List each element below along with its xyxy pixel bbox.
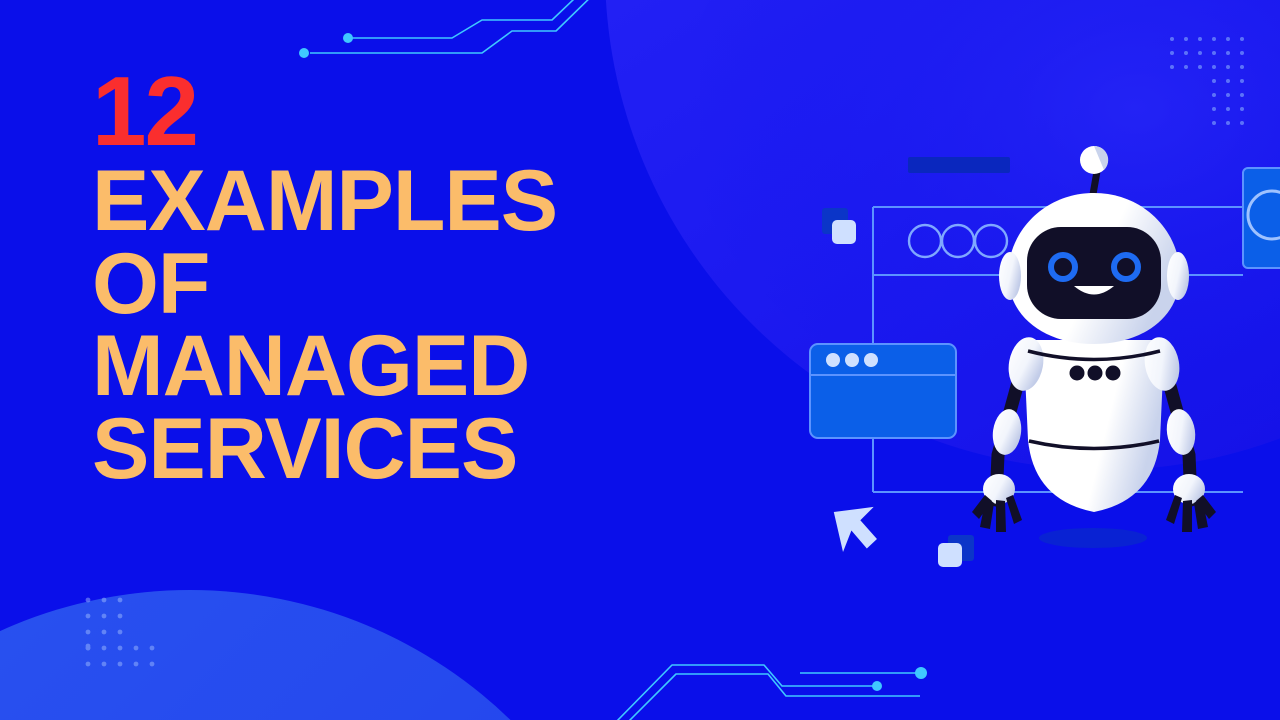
robot-body (1005, 334, 1184, 512)
headline-line-2: OF (92, 243, 712, 326)
robot-ear-right (1167, 252, 1189, 300)
headline-line-1: EXAMPLES (92, 160, 712, 243)
robot-head (999, 193, 1189, 344)
robot-ear-left (999, 252, 1021, 300)
cursor-arrow-icon[interactable] (834, 503, 883, 554)
robot-visor (1027, 227, 1161, 319)
robot-hand-left (972, 495, 1022, 532)
robot-hand-right (1166, 495, 1216, 532)
square-pair-bottom (938, 535, 974, 567)
headline-line-3: MANAGED (92, 325, 712, 408)
robot-arm-right (1164, 368, 1216, 532)
square-pair-top (822, 208, 856, 244)
slide-canvas: 12 EXAMPLES OF MANAGED SERVICES (0, 0, 1280, 720)
headline-line-4: SERVICES (92, 408, 712, 491)
robot-arm-left (972, 368, 1024, 532)
main-window-dots (909, 225, 1007, 257)
robot-mascot (972, 146, 1216, 532)
small-browser-dots (826, 353, 878, 367)
robot-chest-dots (1070, 366, 1121, 381)
headline-number: 12 (92, 68, 712, 154)
small-browser-window[interactable] (810, 344, 956, 438)
dark-title-bar (908, 157, 1010, 173)
right-edge-card[interactable] (1243, 168, 1280, 268)
headline-block: 12 EXAMPLES OF MANAGED SERVICES (92, 68, 712, 490)
shadow-ellipse (1039, 528, 1147, 548)
